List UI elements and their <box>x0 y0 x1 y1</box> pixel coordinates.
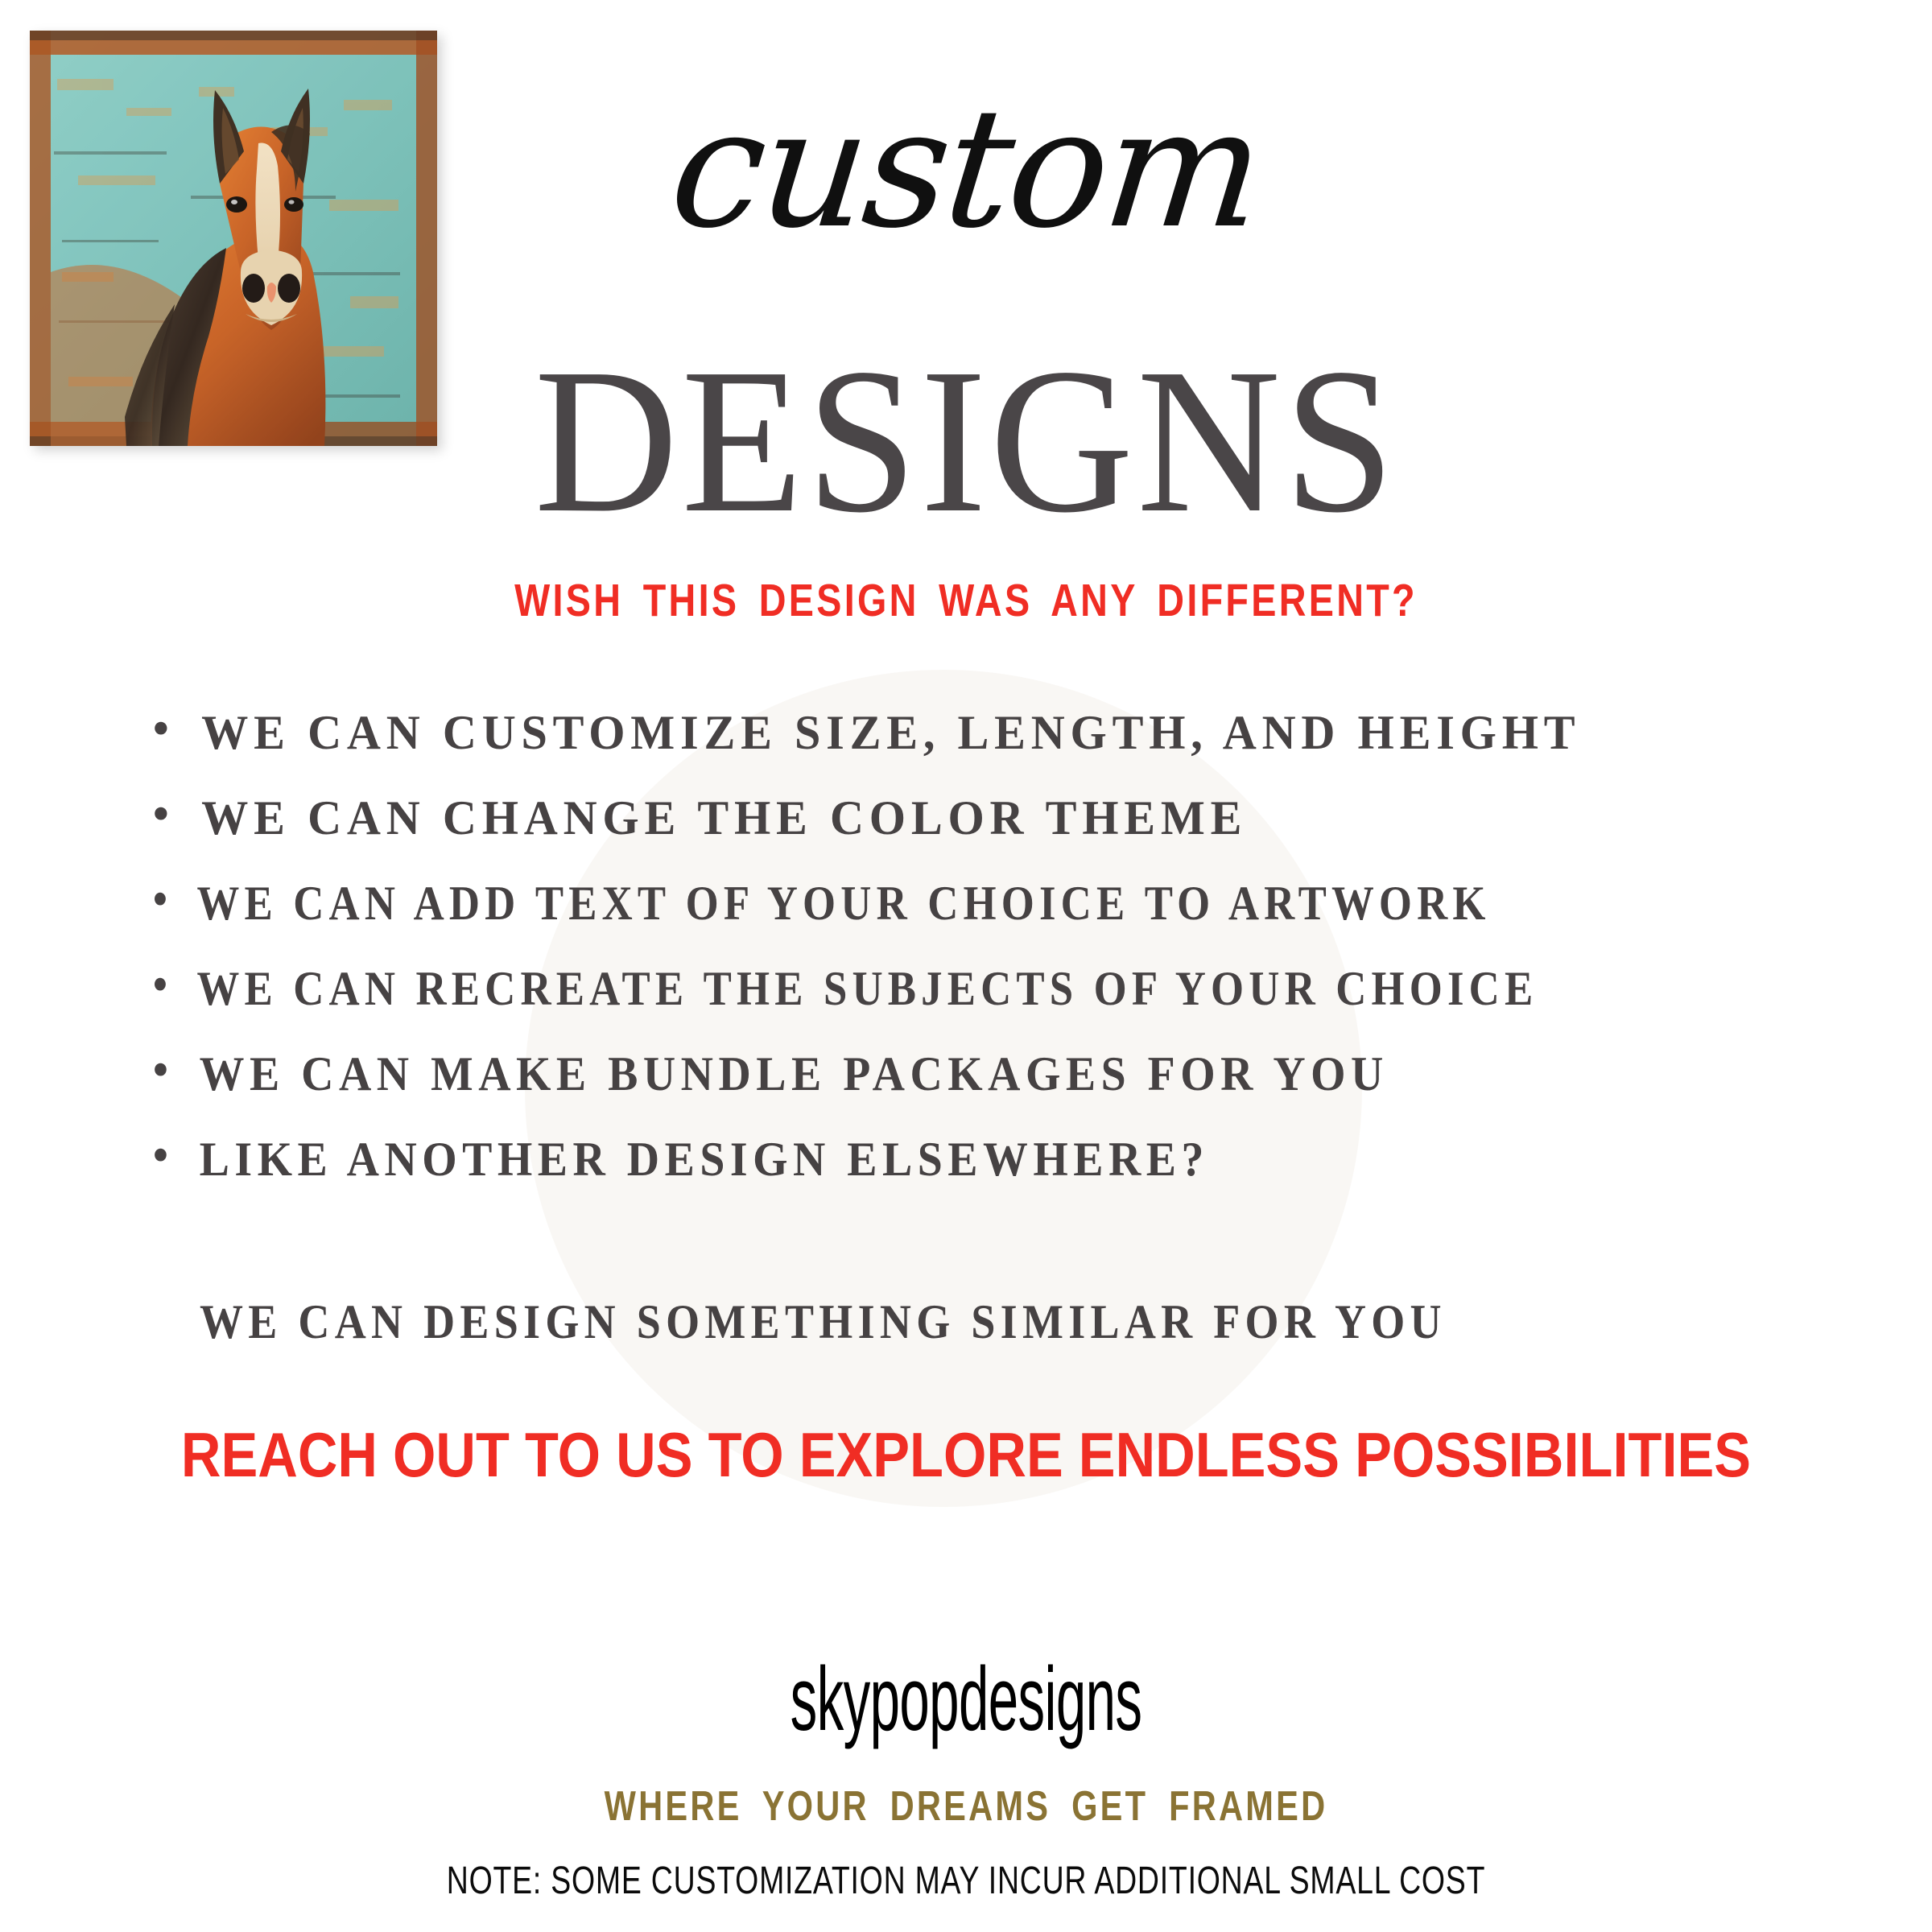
page-title: DESIGNS <box>39 336 1893 544</box>
list-item: WE CAN CUSTOMIZE SIZE, LENGTH, AND HEIGH… <box>153 708 1808 757</box>
list-item: LIKE ANOTHER DESIGN ELSEWHERE? <box>153 1135 1740 1183</box>
footer-note: NOTE: SOME CUSTOMIZATION MAY INCUR ADDIT… <box>213 1862 1719 1901</box>
list-item-continuation: WE CAN DESIGN SOMETHING SIMILAR FOR YOU <box>200 1298 1447 1346</box>
list-item: WE CAN CHANGE THE COLOR THEME <box>153 794 1808 842</box>
call-to-action-text: REACH OUT TO US TO EXPLORE ENDLESS POSSI… <box>116 1423 1816 1486</box>
customization-options-list: WE CAN CUSTOMIZE SIZE, LENGTH, AND HEIGH… <box>153 708 1860 1220</box>
list-item: WE CAN MAKE BUNDLE PACKAGES FOR YOU <box>153 1050 1740 1098</box>
subtitle-question: WISH THIS DESIGN WAS ANY DIFFERENT? <box>174 578 1758 624</box>
header-script-word: custom <box>0 87 1932 252</box>
list-item: WE CAN RECREATE THE SUBJECTS OF YOUR CHO… <box>153 964 1655 1013</box>
brand-tagline: WHERE YOUR DREAMS GET FRAMED <box>193 1785 1739 1827</box>
brand-wordmark: skypopdesigns <box>386 1654 1546 1744</box>
list-item: WE CAN ADD TEXT OF YOUR CHOICE TO ARTWOR… <box>153 879 1655 927</box>
